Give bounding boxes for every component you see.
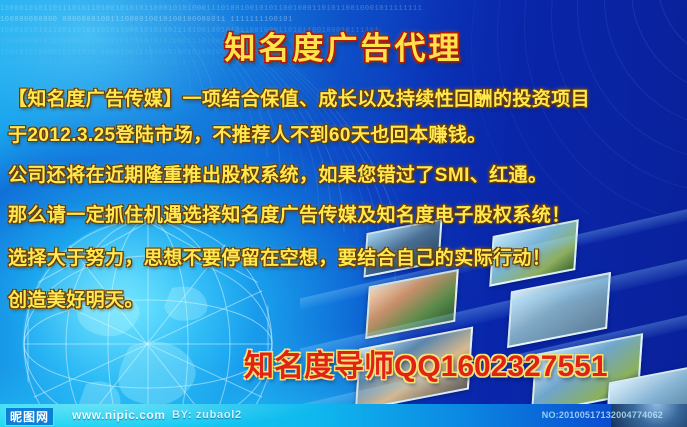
watermark-footer-bar: 昵图网 www.nipic.com BY: zubaol2 NO:2010051…: [0, 404, 687, 427]
body-line-6: 创造美好明天。: [8, 285, 144, 312]
advertisement-poster: 1000010101101110101101001010101100010101…: [0, 0, 687, 427]
body-line-1: 【知名度广告传媒】一项结合保值、成长以及持续性回酬的投资项目: [8, 84, 590, 111]
body-line-5: 选择大于努力，思想不要停留在空想，要结合自己的实际行动！: [8, 243, 551, 270]
body-line-4: 那么请一定抓住机遇选择知名度广告传媒及知名度电子股权系统！: [8, 200, 571, 227]
contact-qq-text: 知名度导师QQ1602327551: [244, 341, 608, 385]
nipic-logo: 昵图网: [5, 407, 54, 426]
photo-tile: [507, 272, 611, 348]
image-number: NO:20100517132004774062: [542, 410, 663, 420]
page-title: 知名度广告代理: [0, 23, 687, 68]
body-line-2: 于2012.3.25登陆市场，不推荐人不到60天也回本赚钱。: [8, 120, 487, 147]
body-line-3: 公司还将在近期隆重推出股权系统，如果您错过了SMI、红通。: [8, 160, 547, 187]
photo-tile: [365, 269, 459, 339]
nipic-website-url[interactable]: www.nipic.com: [72, 408, 165, 422]
author-credit: BY: zubaol2: [172, 409, 242, 421]
